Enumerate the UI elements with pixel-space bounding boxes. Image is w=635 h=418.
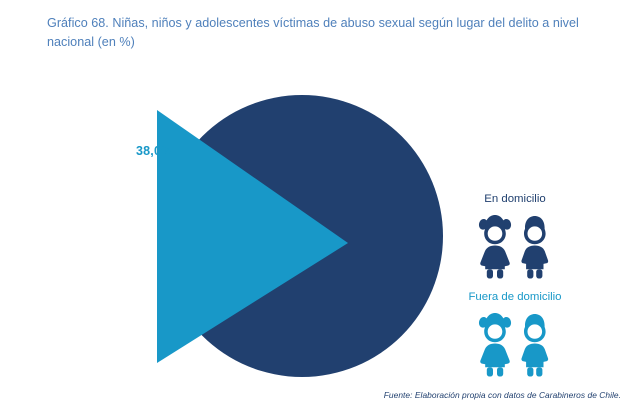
slice-value-label-en-domicilio: 62,0% (355, 371, 391, 385)
chart-plot-area: 38,0% 62,0% En domicilio (0, 60, 635, 390)
legend-item-en-domicilio[interactable]: En domicilio (430, 192, 600, 279)
legend-label-en-domicilio: En domicilio (430, 192, 600, 207)
slice-value-label-fuera-domicilio: 38,0% (136, 144, 172, 158)
page-title: Gráfico 68. Niñas, niños y adolescentes … (47, 14, 607, 52)
girl-boy-pair-icon (477, 211, 553, 279)
legend-label-fuera-domicilio: Fuera de domicilio (430, 290, 600, 305)
source-note: Fuente: Elaboración propia con datos de … (384, 390, 621, 400)
girl-boy-pair-icon (477, 309, 553, 377)
legend-item-fuera-domicilio[interactable]: Fuera de domicilio (430, 290, 600, 377)
